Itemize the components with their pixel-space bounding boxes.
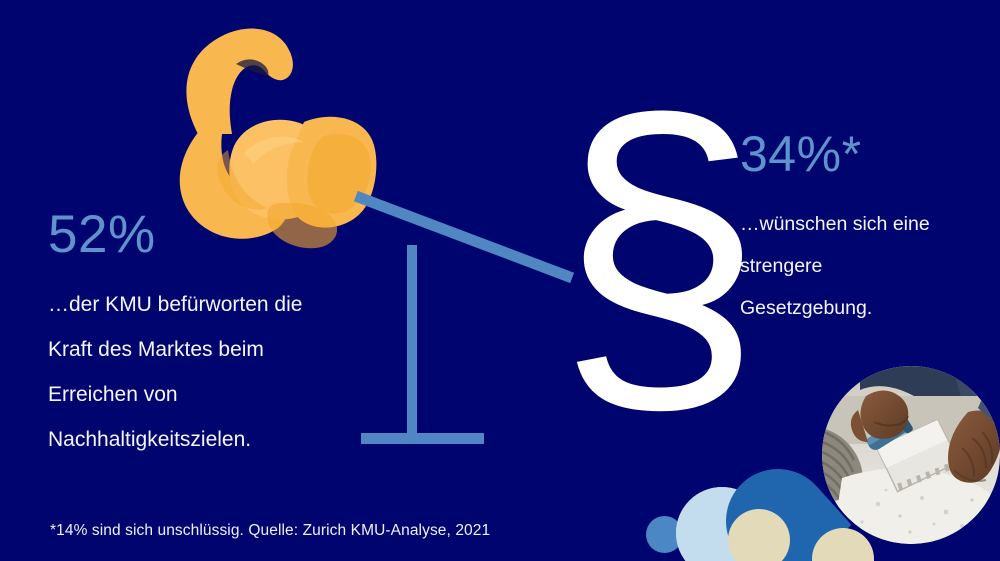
stat-right-line-2: strengere <box>740 245 990 287</box>
balance-scale-icon <box>350 185 580 450</box>
stat-right-line-1: …wünschen sich eine <box>740 203 990 245</box>
infographic-slide: § 52% …der KMU befürworten die Kraft des… <box>0 0 1000 561</box>
stat-left-number: 52% <box>48 204 378 266</box>
stat-block-left: 52% …der KMU befürworten die Kraft des M… <box>48 204 378 462</box>
worker-photo <box>822 366 1000 544</box>
stat-right-line-3: Gesetzgebung. <box>740 287 990 329</box>
stat-left-line-1: …der KMU befürworten die <box>48 282 378 327</box>
stat-block-right: 34%* …wünschen sich eine strengere Geset… <box>740 125 990 329</box>
section-sign-icon: § <box>556 86 746 416</box>
stat-left-line-4: Nachhaltigkeitszielen. <box>48 417 378 462</box>
stat-right-number: 34%* <box>740 125 990 183</box>
stat-left-line-3: Erreichen von <box>48 372 378 417</box>
footnote-source: *14% sind sich unschlüssig. Quelle: Zuri… <box>50 521 490 541</box>
stat-left-line-2: Kraft des Marktes beim <box>48 327 378 372</box>
